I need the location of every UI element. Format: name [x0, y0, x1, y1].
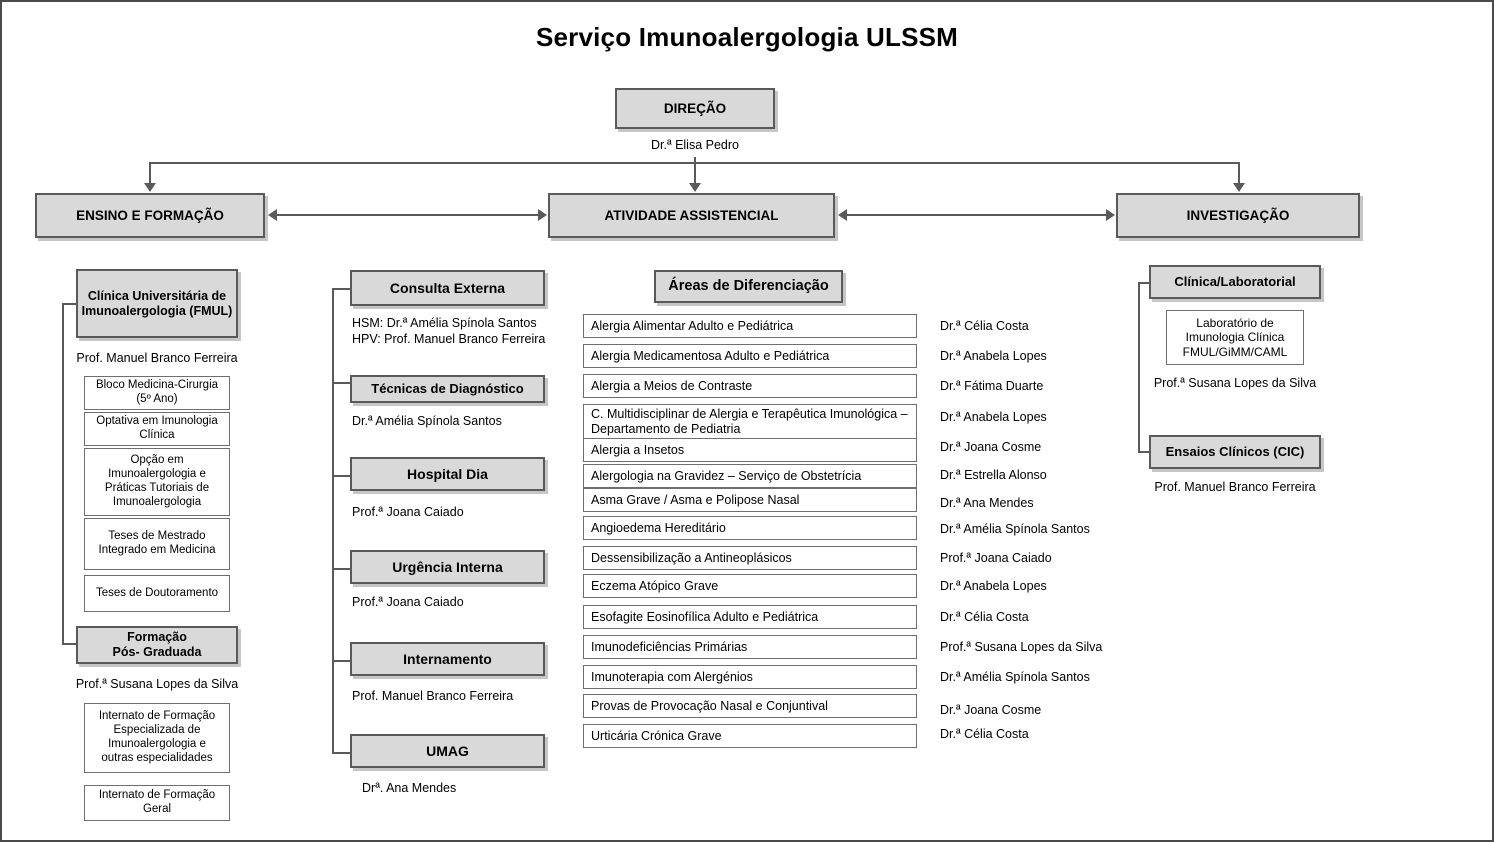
caption-clinica-laboratorial-person: Prof.ª Susana Lopes da Silva: [1144, 376, 1326, 392]
bracket-assistencial-stub-2: [332, 382, 350, 384]
item-opcao-imunoalergologia[interactable]: Opção em Imunoalergologia e Práticas Tut…: [84, 448, 230, 516]
area-lead: Dr.ª Amélia Spínola Santos: [940, 670, 1140, 686]
area-row[interactable]: Alergia a Insetos: [583, 438, 917, 462]
caption-consulta-externa-person: HSM: Dr.ª Amélia Spínola Santos HPV: Pro…: [352, 316, 562, 347]
area-row[interactable]: Alergia Alimentar Adulto e Pediátrica: [583, 314, 917, 338]
caption-umag-person: Drª. Ana Mendes: [362, 781, 572, 797]
area-lead: Dr.ª Anabela Lopes: [940, 410, 1140, 426]
bracket-assistencial-stub-5: [332, 660, 350, 662]
item-bloco-medicina-cirurgia[interactable]: Bloco Medicina-Cirurgia (5º Ano): [84, 376, 230, 410]
arrowhead-toward-investigacao: [1106, 209, 1115, 221]
area-row[interactable]: Imunodeficiências Primárias: [583, 635, 917, 659]
area-row[interactable]: Alergologia na Gravidez – Serviço de Obs…: [583, 464, 917, 488]
caption-direcao-person: Dr.ª Elisa Pedro: [615, 138, 775, 154]
arrowhead-ensino: [144, 183, 156, 192]
area-lead: Prof.ª Susana Lopes da Silva: [940, 640, 1140, 656]
area-row[interactable]: Esofagite Eosinofílica Adulto e Pediátri…: [583, 605, 917, 629]
item-optativa-imunologia-clinica[interactable]: Optativa em Imunologia Clínica: [84, 412, 230, 446]
bracket-assistencial-stub-4: [332, 568, 350, 570]
item-internato-formacao-especializada[interactable]: Internato de Formação Especializada de I…: [84, 703, 230, 773]
area-lead: Dr.ª Célia Costa: [940, 319, 1140, 335]
bracket-investigacao-vertical: [1138, 282, 1140, 453]
caption-hospital-dia-person: Prof.ª Joana Caiado: [352, 505, 562, 521]
bracket-assistencial-stub-6: [332, 752, 350, 754]
node-tecnicas-diagnostico[interactable]: Técnicas de Diagnóstico: [350, 375, 545, 403]
area-row[interactable]: Asma Grave / Asma e Polipose Nasal: [583, 488, 917, 512]
area-row[interactable]: Imunoterapia com Alergénios: [583, 665, 917, 689]
connector-drop-ensino: [149, 162, 151, 184]
item-internato-formacao-geral[interactable]: Internato de Formação Geral: [84, 785, 230, 821]
node-consulta-externa[interactable]: Consulta Externa: [350, 270, 545, 306]
arrowhead-investigacao: [1233, 183, 1245, 192]
caption-clinica-universitaria-person: Prof. Manuel Branco Ferreira: [66, 351, 248, 367]
node-clinica-laboratorial[interactable]: Clínica/Laboratorial: [1149, 265, 1321, 299]
area-row[interactable]: C. Multidisciplinar de Alergia e Terapêu…: [583, 404, 917, 440]
bracket-assistencial-vertical: [332, 288, 334, 754]
bracket-ensino-vertical: [62, 303, 64, 645]
area-lead: Dr.ª Anabela Lopes: [940, 579, 1140, 595]
node-urgencia-interna[interactable]: Urgência Interna: [350, 550, 545, 584]
connector-drop-investigacao: [1238, 162, 1240, 184]
connector-drop-assistencial: [694, 162, 696, 184]
arrowhead-toward-ensino: [268, 209, 277, 221]
page-title: Serviço Imunoalergologia ULSSM: [2, 22, 1492, 53]
bracket-assistencial-stub-1: [332, 288, 350, 290]
node-formacao-pos-graduada[interactable]: Formação Pós- Graduada: [76, 626, 238, 664]
org-chart-page: Serviço Imunoalergologia ULSSM DIREÇÃO D…: [0, 0, 1494, 842]
item-teses-doutoramento[interactable]: Teses de Doutoramento: [84, 575, 230, 612]
arrowhead-toward-assistencial-right: [838, 209, 847, 221]
caption-tecnicas-diagnostico-person: Dr.ª Amélia Spínola Santos: [352, 414, 562, 430]
caption-urgencia-interna-person: Prof.ª Joana Caiado: [352, 595, 562, 611]
node-areas-diferenciacao-header[interactable]: Áreas de Diferenciação: [654, 270, 843, 303]
area-lead: Dr.ª Estrella Alonso: [940, 468, 1140, 484]
connector-ensino-assistencial: [275, 214, 538, 216]
area-lead: Dr.ª Célia Costa: [940, 727, 1140, 743]
node-ensino-formacao[interactable]: ENSINO E FORMAÇÃO: [35, 193, 265, 238]
area-lead: Dr.ª Ana Mendes: [940, 496, 1140, 512]
item-teses-mestrado[interactable]: Teses de Mestrado Integrado em Medicina: [84, 518, 230, 570]
area-row[interactable]: Alergia Medicamentosa Adulto e Pediátric…: [583, 344, 917, 368]
caption-internamento-person: Prof. Manuel Branco Ferreira: [352, 689, 562, 705]
caption-formacao-pos-graduada-person: Prof.ª Susana Lopes da Silva: [66, 677, 248, 693]
node-direcao[interactable]: DIREÇÃO: [615, 88, 775, 129]
caption-ensaios-clinicos-person: Prof. Manuel Branco Ferreira: [1144, 480, 1326, 496]
item-laboratorio-imunologia-clinica[interactable]: Laboratório de Imunologia Clínica FMUL/G…: [1166, 310, 1304, 365]
bracket-assistencial-stub-3: [332, 475, 350, 477]
area-lead: Dr.ª Fátima Duarte: [940, 379, 1140, 395]
area-row[interactable]: Provas de Provocação Nasal e Conjuntival: [583, 694, 917, 718]
area-lead: Dr.ª Célia Costa: [940, 610, 1140, 626]
area-row[interactable]: Eczema Atópico Grave: [583, 574, 917, 598]
node-umag[interactable]: UMAG: [350, 734, 545, 768]
area-lead: Dr.ª Joana Cosme: [940, 440, 1140, 456]
node-investigacao[interactable]: INVESTIGAÇÃO: [1116, 193, 1360, 238]
area-row[interactable]: Angioedema Hereditário: [583, 516, 917, 540]
arrowhead-assistencial: [689, 183, 701, 192]
node-hospital-dia[interactable]: Hospital Dia: [350, 457, 545, 491]
area-lead: Dr.ª Joana Cosme: [940, 703, 1140, 719]
area-lead: Prof.ª Joana Caiado: [940, 551, 1140, 567]
area-row[interactable]: Alergia a Meios de Contraste: [583, 374, 917, 398]
node-internamento[interactable]: Internamento: [350, 642, 545, 676]
connector-assistencial-investigacao: [845, 214, 1106, 216]
arrowhead-toward-assistencial-left: [538, 209, 547, 221]
area-lead: Dr.ª Anabela Lopes: [940, 349, 1140, 365]
node-clinica-universitaria[interactable]: Clínica Universitária de Imunoalergologi…: [76, 269, 238, 338]
node-ensaios-clinicos[interactable]: Ensaios Clínicos (CIC): [1149, 435, 1321, 469]
area-row[interactable]: Dessensibilização a Antineoplásicos: [583, 546, 917, 570]
node-atividade-assistencial[interactable]: ATIVIDADE ASSISTENCIAL: [548, 193, 835, 238]
area-lead: Dr.ª Amélia Spínola Santos: [940, 522, 1140, 538]
area-row[interactable]: Urticária Crónica Grave: [583, 724, 917, 748]
